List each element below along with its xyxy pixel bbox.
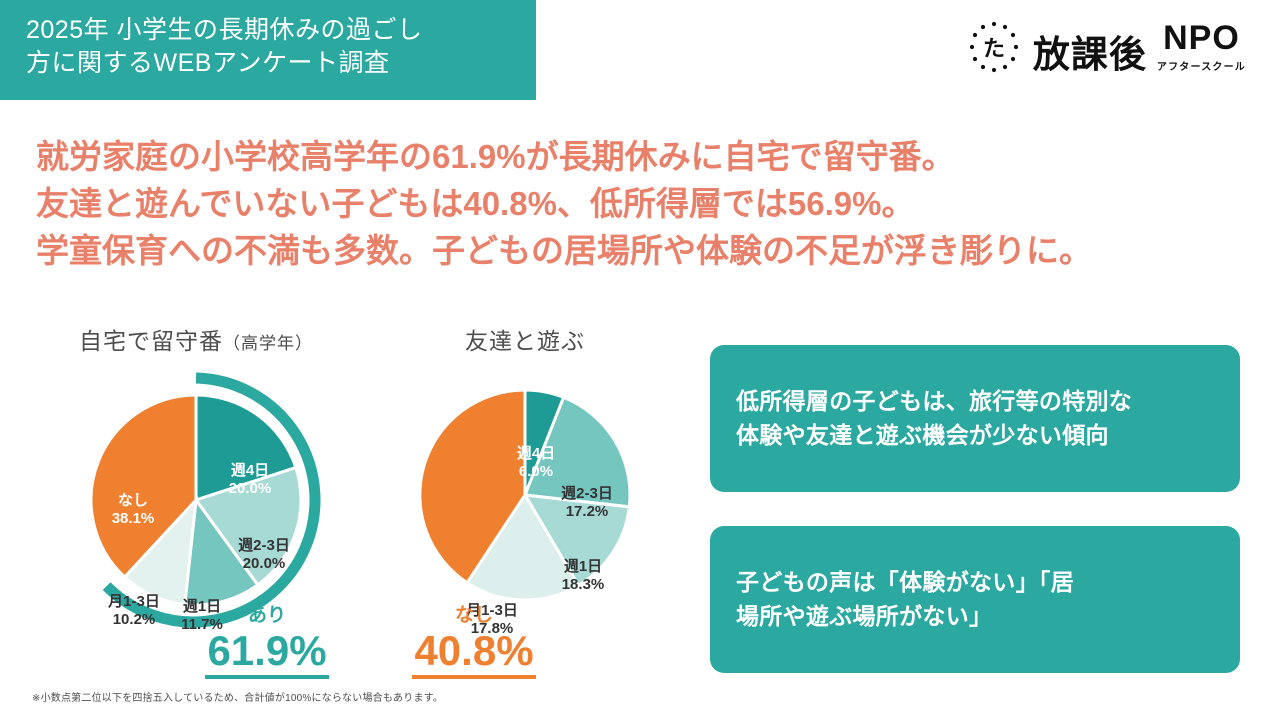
callout-low-income: 低所得層の子どもは、旅行等の特別な 体験や友達と遊ぶ機会が少ない傾向 (710, 345, 1240, 492)
pie-stay-home: 週4日20.0% 週2-3日20.0% 週1日11.7% 月1-3日10.2% … (46, 370, 346, 630)
pie-play-friends: 週4日6.0% 週2-3日17.2% 週1日18.3% 月1-3日17.8% (385, 370, 665, 630)
brand-logo: た 放課後 NPO アフタースクール (967, 20, 1246, 74)
chart-title-sub: （高学年） (223, 334, 313, 353)
callout-child-voices: 子どもの声は「体験がない」「居 場所や遊ぶ場所がない」 (710, 526, 1240, 673)
chart-title-play-friends: 友達と遊ぶ (385, 322, 665, 356)
chart-title-main-2: 友達と遊ぶ (465, 328, 585, 354)
logo-wordmark: 放課後 NPO アフタースクール (1033, 21, 1246, 73)
headline: 就労家庭の小学校高学年の61.9%が長期休みに自宅で留守番。 友達と遊んでいない… (36, 134, 1251, 275)
svg-text:た: た (983, 36, 1005, 61)
pie-play-friends-svg (385, 370, 665, 630)
callout-child-voices-text: 子どもの声は「体験がない」「居 場所や遊ぶ場所がない」 (736, 566, 1074, 633)
logo-jp-text: 放課後 (1033, 36, 1147, 73)
logo-npo-text: NPO (1163, 21, 1240, 55)
summary-stat-nashi: なし 40.8% (389, 606, 559, 679)
summary-stat-nashi-value: 40.8% (412, 627, 535, 679)
pie-stay-home-svg (46, 370, 346, 630)
chart-title-main: 自宅で留守番 (79, 328, 223, 354)
chart-play-friends: 友達と遊ぶ 週4日6.0% 週2-3日17.2% 週 (385, 322, 665, 630)
chart-stay-home: 自宅で留守番（高学年） 週4日20.0% (46, 322, 346, 630)
chart-title-stay-home: 自宅で留守番（高学年） (46, 322, 346, 356)
title-band: 2025年 小学生の長期休みの過ごし 方に関するWEBアンケート調査 (0, 0, 536, 100)
summary-stat-ari-value: 61.9% (205, 627, 328, 679)
summary-stat-nashi-caption: なし (389, 606, 559, 627)
page-title: 2025年 小学生の長期休みの過ごし 方に関するWEBアンケート調査 (26, 14, 518, 79)
footnote: ※小数点第二位以下を四捨五入しているため、合計値が100%にならない場合もありま… (32, 689, 443, 704)
logo-subtitle-text: アフタースクール (1157, 58, 1246, 73)
summary-stat-ari: あり 61.9% (182, 606, 352, 679)
callout-low-income-text: 低所得層の子どもは、旅行等の特別な 体験や友達と遊ぶ機会が少ない傾向 (736, 385, 1132, 452)
slide-root: 2025年 小学生の長期休みの過ごし 方に関するWEBアンケート調査 た 放課後 (0, 0, 1280, 720)
summary-stat-ari-caption: あり (182, 606, 352, 627)
dotted-circle-logo-icon: た (967, 20, 1021, 74)
